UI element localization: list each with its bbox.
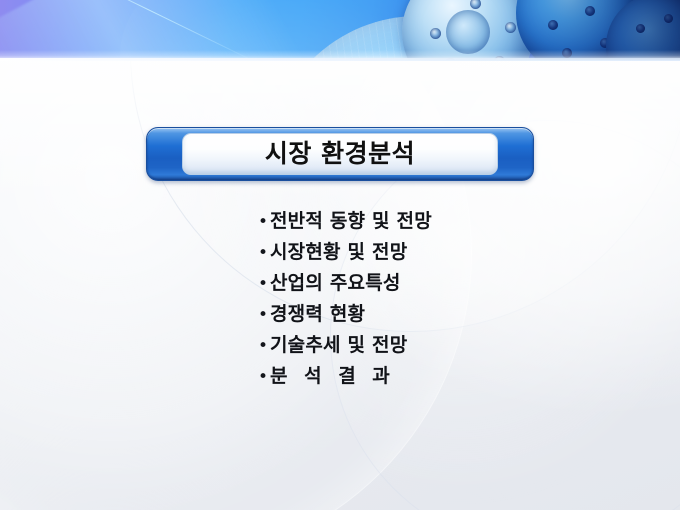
list-item: • 전반적 동향 및 전망	[258, 212, 588, 243]
list-item-label: 경쟁력 현황	[270, 305, 365, 324]
bullet-dot-icon: •	[258, 276, 270, 293]
bullet-dot-icon: •	[258, 214, 270, 231]
list-item: • 산업의 주요특성	[258, 274, 588, 305]
bullet-dot-icon: •	[258, 307, 270, 324]
bullet-dot-icon: •	[258, 338, 270, 355]
list-item: • 기술추세 및 전망	[258, 336, 588, 367]
bullet-dot-icon: •	[258, 245, 270, 262]
list-item-label: 시장현황 및 전망	[270, 243, 407, 262]
header-bottom-edge	[0, 58, 680, 61]
list-item-label: 산업의 주요특성	[270, 274, 401, 293]
list-item-label: 전반적 동향 및 전망	[270, 212, 432, 231]
slide-header-banner	[0, 0, 680, 60]
page-title: 시장 환경분석	[265, 141, 415, 166]
gear-bolt-icon	[430, 28, 441, 39]
bullet-dot-icon: •	[258, 369, 270, 386]
list-item: • 분 석 결 과	[258, 367, 588, 398]
list-item-label: 분 석 결 과	[270, 367, 395, 386]
agenda-bullet-list: • 전반적 동향 및 전망 • 시장현황 및 전망 • 산업의 주요특성 • 경…	[258, 212, 588, 398]
list-item: • 시장현황 및 전망	[258, 243, 588, 274]
slide-title-panel: 시장 환경분석	[182, 133, 498, 175]
list-item-label: 기술추세 및 전망	[270, 336, 407, 355]
presentation-slide: 시장 환경분석 • 전반적 동향 및 전망 • 시장현황 및 전망 • 산업의 …	[0, 0, 680, 510]
gear-hub	[446, 10, 490, 54]
list-item: • 경쟁력 현황	[258, 305, 588, 336]
